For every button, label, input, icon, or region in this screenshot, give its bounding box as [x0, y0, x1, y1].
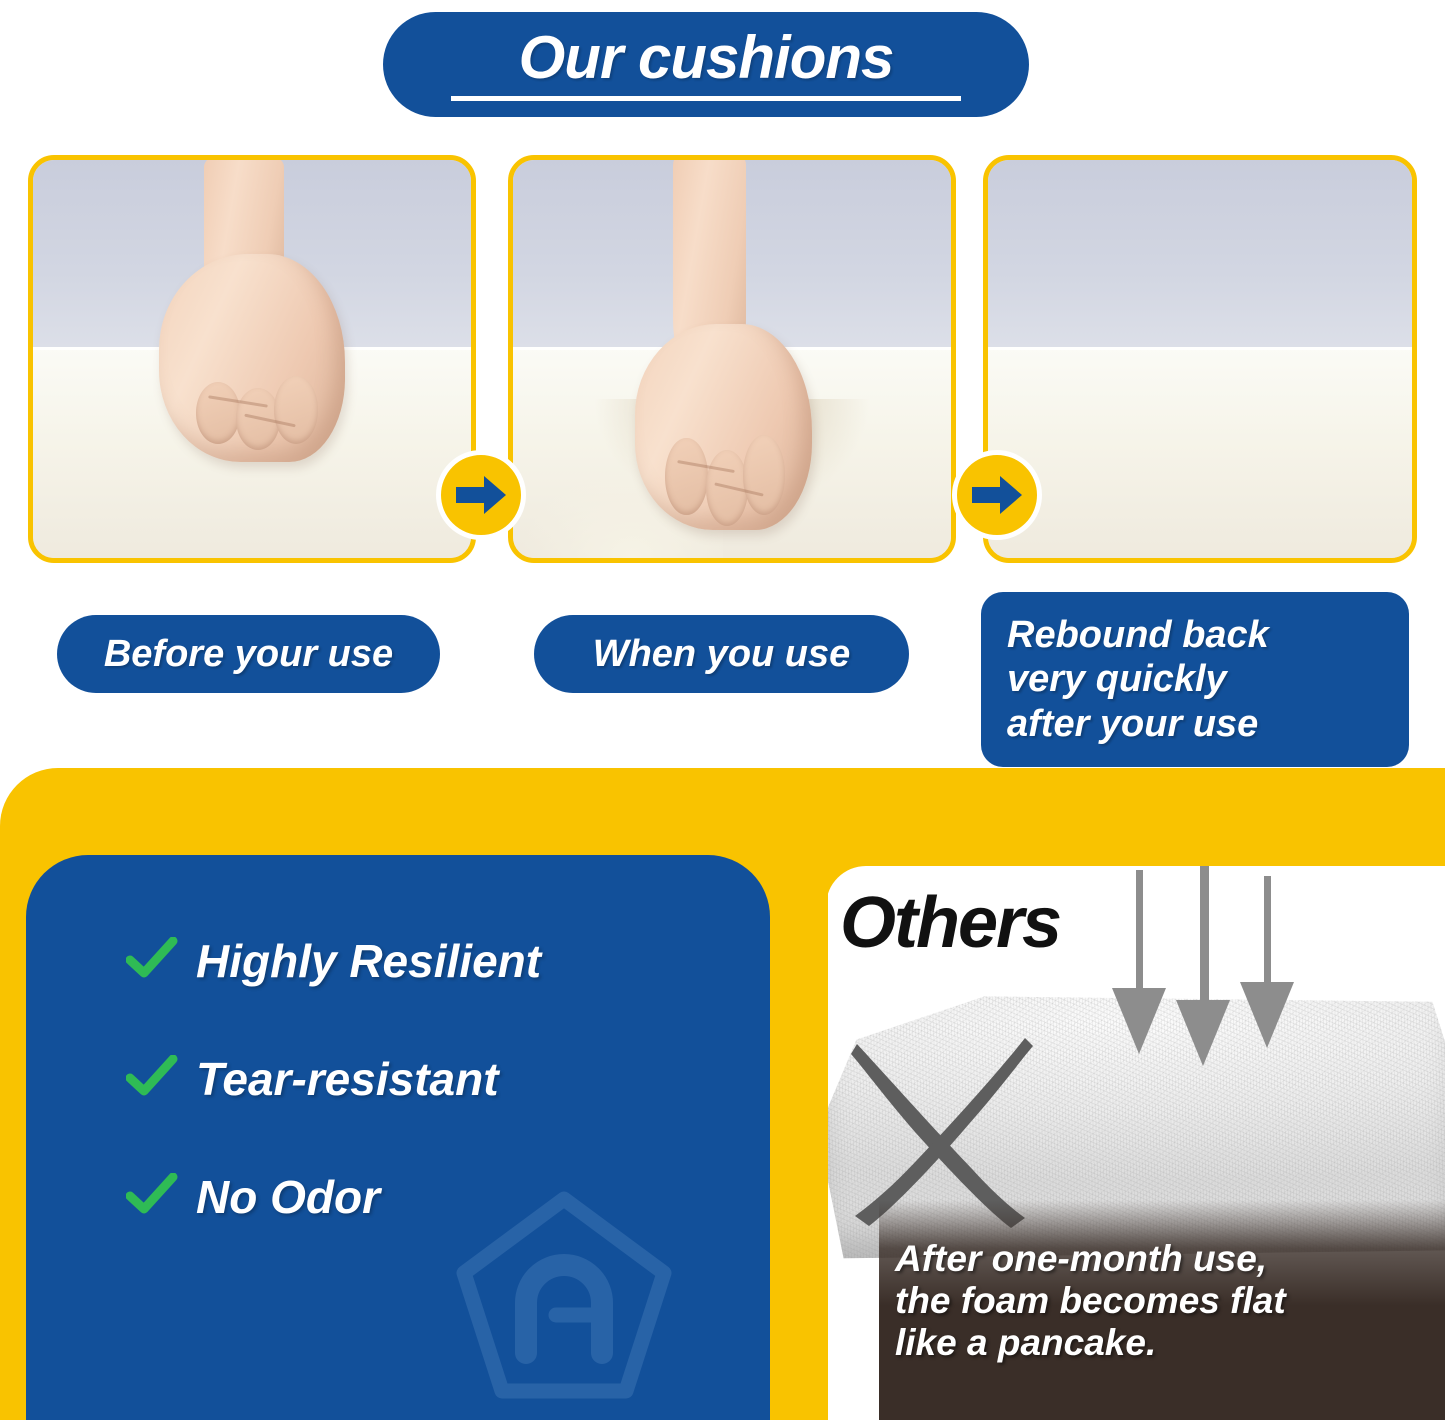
step-label-after-line-2: very quickly — [1007, 657, 1227, 701]
step-label-after-line-3: after your use — [1007, 702, 1258, 746]
fist-pressing-icon — [627, 155, 820, 530]
fist-resting-icon — [151, 155, 352, 462]
comparison-photo-2 — [508, 155, 956, 563]
others-caption-text: After one-month use, the foam becomes fl… — [895, 1238, 1435, 1365]
title-underline — [451, 96, 961, 101]
check-icon — [126, 937, 178, 986]
feature-label: Tear-resistant — [196, 1052, 499, 1106]
check-icon — [126, 1173, 178, 1222]
step-arrow-2-icon — [952, 450, 1042, 540]
others-caption-panel: After one-month use, the foam becomes fl… — [879, 1200, 1445, 1420]
step-label-after-line-1: Rebound back — [1007, 613, 1269, 657]
step-label-after: Rebound back very quickly after your use — [981, 592, 1409, 767]
yellow-divider-strip — [770, 866, 828, 1420]
others-caption-line-2: the foam becomes flat — [895, 1280, 1435, 1322]
photo-background-wall — [988, 160, 1412, 347]
features-list: Highly Resilient Tear-resistant No Odor — [126, 933, 746, 1287]
feature-item-highly-resilient: Highly Resilient — [126, 933, 746, 989]
step-arrow-1-icon — [436, 450, 526, 540]
step-label-during: When you use — [534, 615, 909, 693]
photo-foam-edge — [988, 347, 1412, 350]
others-title: Others — [840, 882, 1060, 964]
check-icon — [126, 1055, 178, 1104]
features-panel: Highly Resilient Tear-resistant No Odor — [26, 855, 770, 1420]
comparison-photo-row — [0, 155, 1445, 565]
page-title: Our cushions — [489, 28, 924, 92]
comparison-photo-1 — [28, 155, 476, 563]
others-caption-line-1: After one-month use, — [895, 1238, 1435, 1280]
feature-label: No Odor — [196, 1170, 380, 1224]
others-caption-line-3: like a pancake. — [895, 1322, 1435, 1364]
knuckle — [665, 438, 707, 514]
knuckle — [274, 376, 318, 444]
comparison-photo-3 — [983, 155, 1417, 563]
step-label-before: Before your use — [57, 615, 440, 693]
feature-label: Highly Resilient — [196, 934, 541, 988]
feature-item-no-odor: No Odor — [126, 1169, 746, 1225]
photo-foam-surface — [988, 347, 1412, 558]
page-title-banner: Our cushions — [383, 12, 1029, 117]
knuckle — [743, 435, 785, 515]
knuckle — [196, 382, 240, 444]
feature-item-tear-resistant: Tear-resistant — [126, 1051, 746, 1107]
